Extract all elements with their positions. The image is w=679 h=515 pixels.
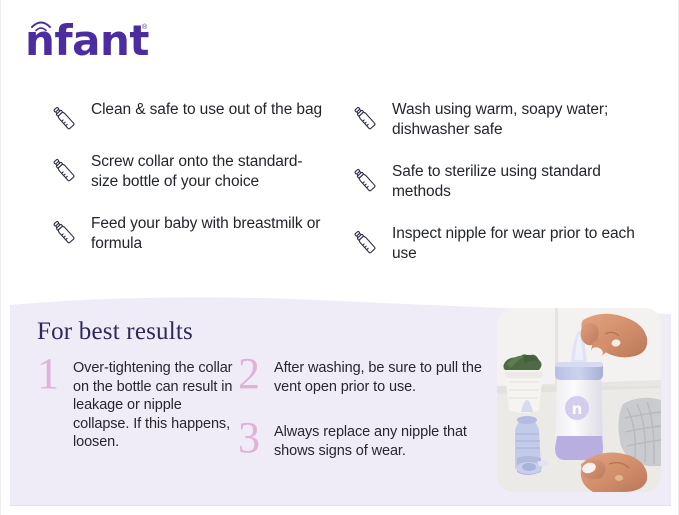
feature-label: Screw collar onto the standard-size bott… bbox=[91, 152, 328, 192]
result-text: Over-tightening the collar on the bottle… bbox=[73, 356, 237, 452]
best-results-heading: For best results bbox=[37, 318, 193, 346]
result-number: 1 bbox=[37, 356, 65, 392]
product-photo-hands-holding-bottle: n bbox=[497, 308, 661, 492]
feature-item: Safe to sterilize using standard methods bbox=[354, 162, 639, 202]
brand-logo: nfant ® bbox=[25, 18, 225, 66]
baby-bottle-icon bbox=[354, 226, 380, 254]
baby-bottle-icon bbox=[354, 102, 380, 130]
baby-bottle-icon bbox=[354, 164, 380, 192]
result-item: 3 Always replace any nipple that shows s… bbox=[238, 420, 488, 460]
feature-item: Feed your baby with breastmilk or formul… bbox=[53, 214, 328, 254]
baby-bottle-icon bbox=[53, 102, 79, 130]
feature-list-right: Wash using warm, soapy water; dishwasher… bbox=[354, 100, 639, 286]
result-text: Always replace any nipple that shows sig… bbox=[274, 420, 488, 460]
feature-label: Feed your baby with breastmilk or formul… bbox=[91, 214, 328, 254]
result-number: 2 bbox=[238, 356, 266, 392]
result-item: 2 After washing, be sure to pull the ven… bbox=[238, 356, 488, 396]
product-photo-illustration: n bbox=[497, 308, 661, 492]
feature-label: Inspect nipple for wear prior to each us… bbox=[392, 224, 639, 264]
product-infographic-page: nfant ® Clean & safe to use out of the b… bbox=[0, 0, 679, 515]
feature-list-left: Clean & safe to use out of the bag Screw… bbox=[53, 100, 328, 276]
feature-item: Wash using warm, soapy water; dishwasher… bbox=[354, 100, 639, 140]
baby-bottle-icon bbox=[53, 154, 79, 182]
feature-item: Screw collar onto the standard-size bott… bbox=[53, 152, 328, 192]
result-item: 1 Over-tightening the collar on the bott… bbox=[37, 356, 237, 452]
brand-wordmark: nfant bbox=[25, 20, 149, 62]
feature-label: Safe to sterilize using standard methods bbox=[392, 162, 639, 202]
best-results-panel: For best results 1 Over-tightening the c… bbox=[10, 288, 671, 506]
panel-bottom-divider bbox=[10, 505, 671, 506]
baby-bottle-icon bbox=[53, 216, 79, 244]
feature-item: Clean & safe to use out of the bag bbox=[53, 100, 328, 130]
registered-trademark-symbol: ® bbox=[142, 24, 147, 31]
svg-text:n: n bbox=[572, 400, 583, 418]
feature-item: Inspect nipple for wear prior to each us… bbox=[354, 224, 639, 264]
feature-label: Wash using warm, soapy water; dishwasher… bbox=[392, 100, 639, 140]
feature-label: Clean & safe to use out of the bag bbox=[91, 100, 322, 120]
result-number: 3 bbox=[238, 420, 266, 456]
result-text: After washing, be sure to pull the vent … bbox=[274, 356, 488, 396]
